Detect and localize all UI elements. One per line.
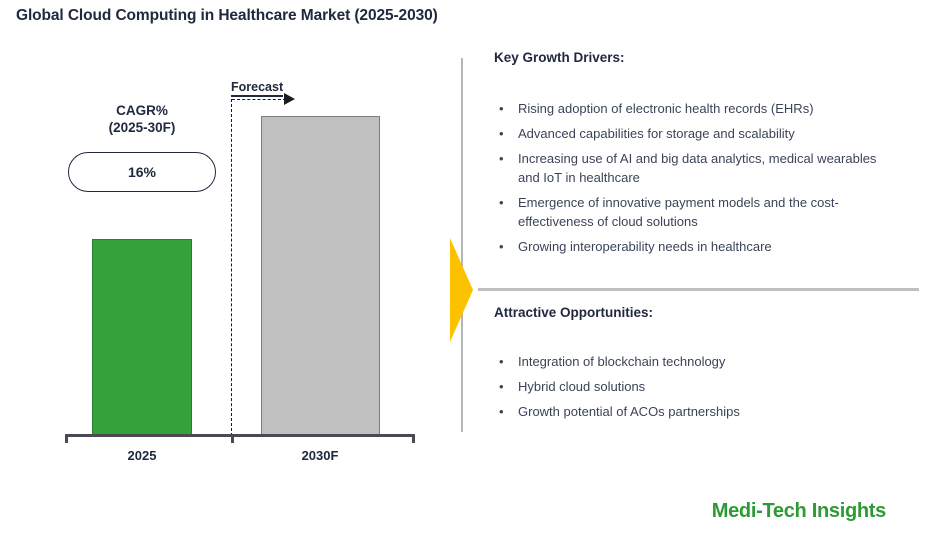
list-item-text: Increasing use of AI and big data analyt… bbox=[518, 151, 876, 185]
list-item: • Emergence of innovative payment models… bbox=[492, 193, 892, 231]
bar-2025 bbox=[92, 239, 192, 436]
bullet-icon: • bbox=[499, 193, 504, 212]
list-item-text: Integration of blockchain technology bbox=[518, 354, 725, 369]
bullet-icon: • bbox=[499, 402, 504, 421]
cagr-caption-line2: (2025-30F) bbox=[62, 119, 222, 136]
cagr-caption-line1: CAGR% bbox=[62, 102, 222, 119]
bullet-icon: • bbox=[499, 124, 504, 143]
bullet-icon: • bbox=[499, 149, 504, 168]
list-item-text: Advanced capabilities for storage and sc… bbox=[518, 126, 795, 141]
cagr-value: 16% bbox=[128, 164, 156, 180]
x-axis-label-2030f: 2030F bbox=[260, 448, 380, 463]
forecast-divider-dashed bbox=[231, 99, 232, 436]
key-growth-drivers-list: • Rising adoption of electronic health r… bbox=[492, 99, 892, 262]
list-item: • Advanced capabilities for storage and … bbox=[492, 124, 892, 143]
list-item-text: Growth potential of ACOs partnerships bbox=[518, 404, 740, 419]
list-item: • Hybrid cloud solutions bbox=[492, 377, 892, 396]
x-axis-label-2025: 2025 bbox=[82, 448, 202, 463]
brand-logo: Medi-Tech Insights bbox=[712, 500, 886, 523]
x-axis-tick-left bbox=[65, 434, 68, 443]
list-item-text: Hybrid cloud solutions bbox=[518, 379, 645, 394]
list-item: • Integration of blockchain technology bbox=[492, 352, 892, 371]
list-item: • Growth potential of ACOs partnerships bbox=[492, 402, 892, 421]
list-item: • Growing interoperability needs in heal… bbox=[492, 237, 892, 256]
slide-canvas: Global Cloud Computing in Healthcare Mar… bbox=[0, 0, 926, 549]
bullet-icon: • bbox=[499, 352, 504, 371]
cagr-caption: CAGR% (2025-30F) bbox=[62, 102, 222, 136]
forecast-arrow-line bbox=[232, 99, 286, 100]
list-item: • Rising adoption of electronic health r… bbox=[492, 99, 892, 118]
key-growth-drivers-heading: Key Growth Drivers: bbox=[494, 50, 625, 65]
bullet-icon: • bbox=[499, 237, 504, 256]
cagr-pill: 16% bbox=[68, 152, 216, 192]
attractive-opportunities-heading: Attractive Opportunities: bbox=[494, 305, 653, 320]
list-item-text: Growing interoperability needs in health… bbox=[518, 239, 772, 254]
x-axis-line bbox=[65, 434, 415, 437]
attractive-opportunities-list: • Integration of blockchain technology •… bbox=[492, 352, 892, 427]
bullet-icon: • bbox=[499, 99, 504, 118]
list-item: • Increasing use of AI and big data anal… bbox=[492, 149, 892, 187]
bar-chart: CAGR% (2025-30F) 16% Forecast 2025 2030F bbox=[0, 0, 460, 480]
list-item-text: Emergence of innovative payment models a… bbox=[518, 195, 839, 229]
x-axis-tick-middle bbox=[231, 434, 234, 443]
x-axis-tick-right bbox=[412, 434, 415, 443]
forecast-arrow-icon bbox=[284, 93, 295, 105]
right-arrow-icon bbox=[450, 238, 473, 342]
list-item-text: Rising adoption of electronic health rec… bbox=[518, 101, 814, 116]
bar-2030f bbox=[261, 116, 380, 436]
forecast-label: Forecast bbox=[231, 80, 283, 97]
insights-panel: Key Growth Drivers: • Rising adoption of… bbox=[478, 0, 926, 549]
bullet-icon: • bbox=[499, 377, 504, 396]
panel-separator bbox=[478, 288, 919, 291]
